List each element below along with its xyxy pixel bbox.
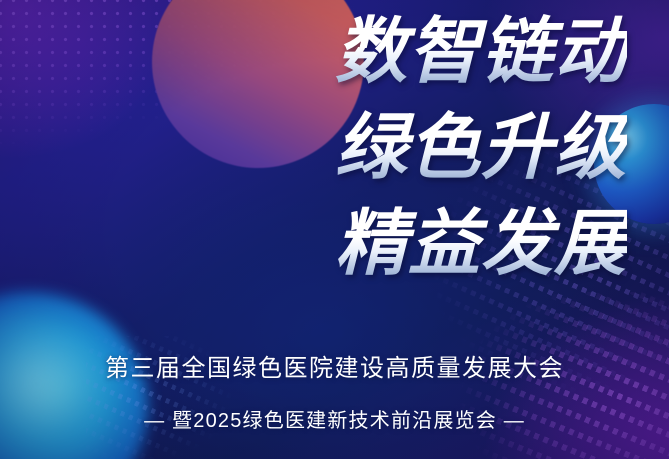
headline-line-2: 绿色升级 xyxy=(187,100,627,196)
subtitle-secondary: — 暨2025绿色医建新技术前沿展览会 — xyxy=(0,406,669,436)
conference-poster: 数智链动 绿色升级 精益发展 第三届全国绿色医院建设高质量发展大会 — 暨202… xyxy=(0,0,669,459)
headline-group: 数智链动 绿色升级 精益发展 xyxy=(187,4,627,292)
headline-line-1: 数智链动 xyxy=(187,4,627,100)
headline-line-3: 精益发展 xyxy=(187,196,627,292)
subtitle-group: 第三届全国绿色医院建设高质量发展大会 — 暨2025绿色医建新技术前沿展览会 — xyxy=(0,352,669,436)
subtitle-primary: 第三届全国绿色医院建设高质量发展大会 xyxy=(0,352,669,386)
